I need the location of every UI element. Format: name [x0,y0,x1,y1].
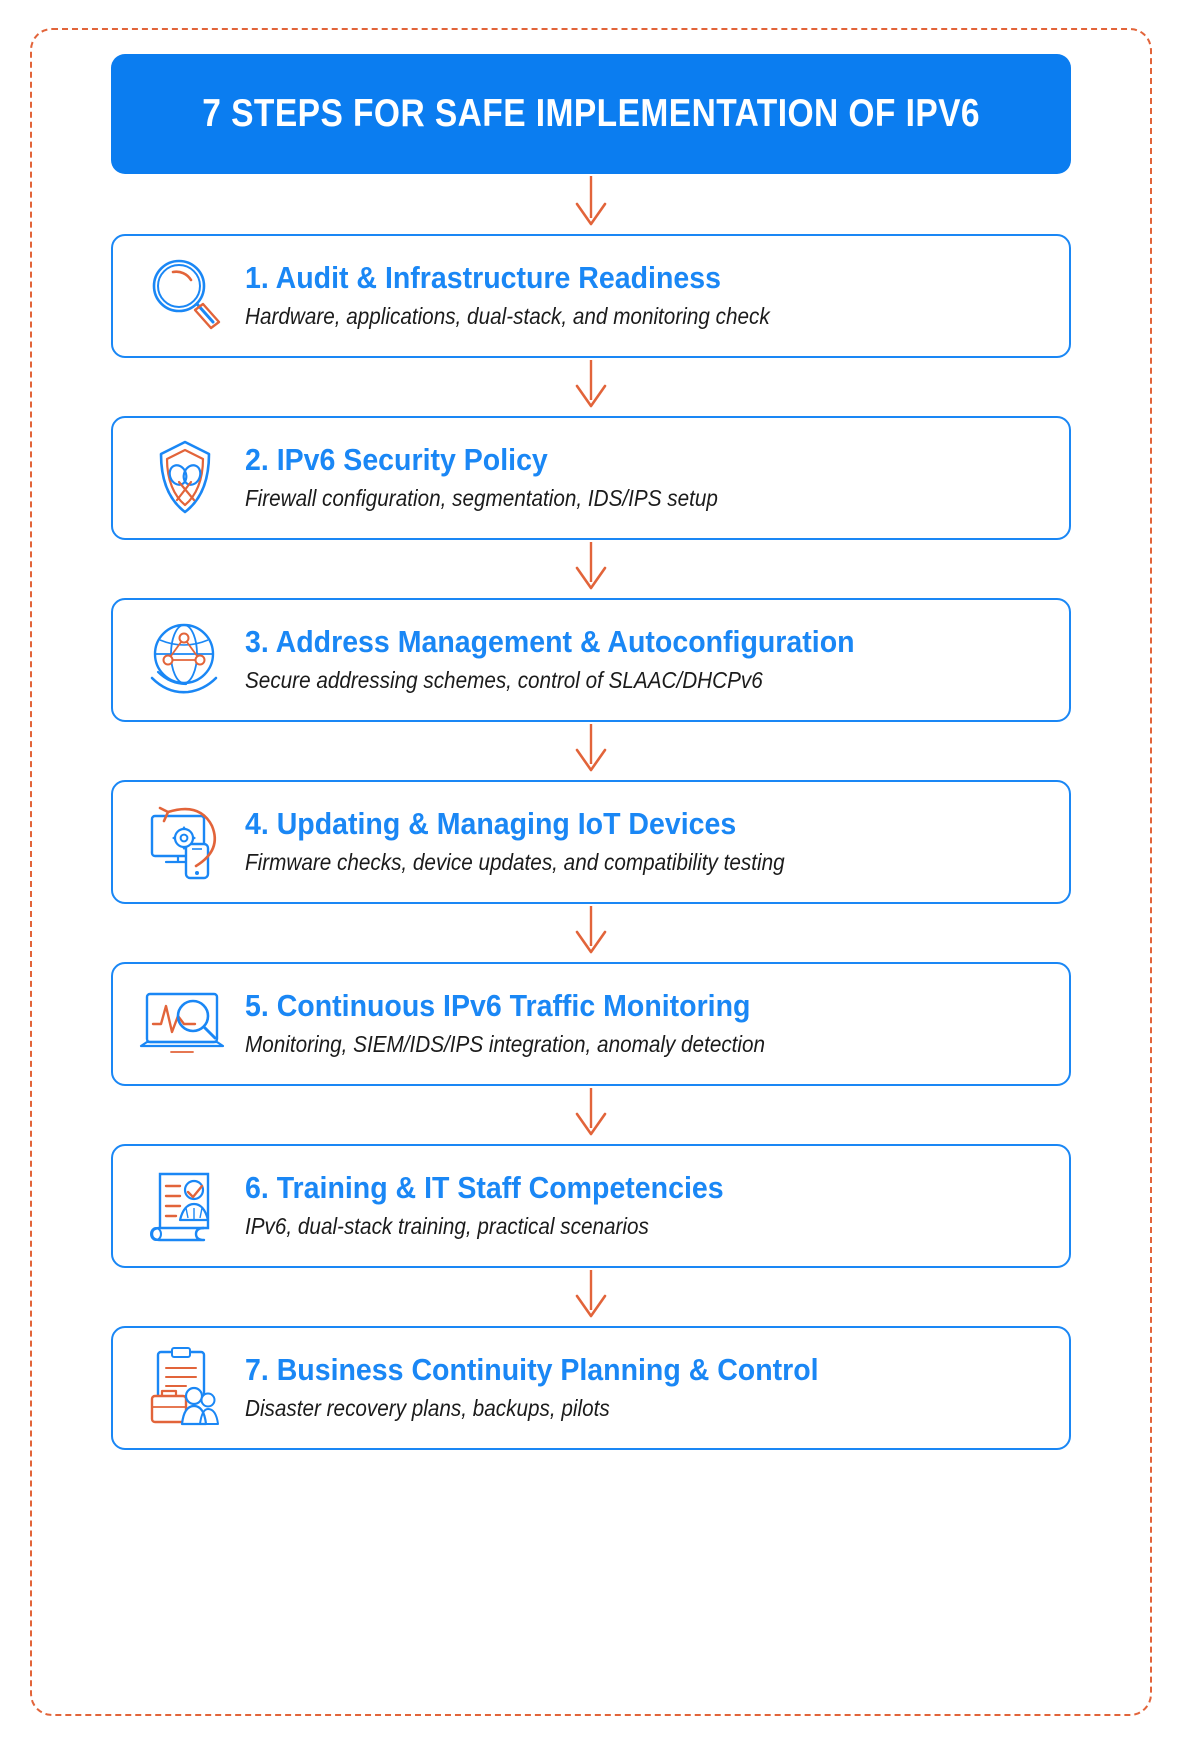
step-7-text: 7. Business Continuity Planning & Contro… [239,1352,1051,1424]
scroll-graduate-icon [138,1162,232,1250]
page-title: 7 STEPS FOR SAFE IMPLEMENTATION OF IPV6 [202,93,980,136]
infographic-page: 7 STEPS FOR SAFE IMPLEMENTATION OF IPV6 [0,0,1182,1744]
step-3-title: 3. Address Management & Autoconfiguratio… [245,624,987,660]
step-4-icon-wrap [131,796,239,888]
connector-arrow-1 [52,174,1130,234]
infographic-content: 7 STEPS FOR SAFE IMPLEMENTATION OF IPV6 [30,28,1152,1716]
step-card-1[interactable]: 1. Audit & Infrastructure Readiness Hard… [111,234,1071,358]
down-arrow-icon [561,904,621,962]
laptop-analytics-magnifier-icon [135,980,235,1068]
step-7-subtitle: Disaster recovery plans, backups, pilots [245,1394,970,1424]
step-5-text: 5. Continuous IPv6 Traffic Monitoring Mo… [239,988,1051,1060]
down-arrow-icon [561,358,621,416]
step-6-title: 6. Training & IT Staff Competencies [245,1170,987,1206]
step-6-text: 6. Training & IT Staff Competencies IPv6… [239,1170,1051,1242]
connector-arrow-5 [52,904,1130,962]
step-2-text: 2. IPv6 Security Policy Firewall configu… [239,442,1051,514]
step-2-icon-wrap [131,432,239,524]
step-4-text: 4. Updating & Managing IoT Devices Firmw… [239,806,1051,878]
step-3-subtitle: Secure addressing schemes, control of SL… [245,666,970,696]
step-card-3[interactable]: 3. Address Management & Autoconfiguratio… [111,598,1071,722]
header-banner: 7 STEPS FOR SAFE IMPLEMENTATION OF IPV6 [111,54,1071,174]
step-2-title: 2. IPv6 Security Policy [245,442,987,478]
step-card-2[interactable]: 2. IPv6 Security Policy Firewall configu… [111,416,1071,540]
step-2-subtitle: Firewall configuration, segmentation, ID… [245,484,970,514]
connector-arrow-6 [52,1086,1130,1144]
connector-arrow-7 [52,1268,1130,1326]
down-arrow-icon [561,722,621,780]
step-7-title: 7. Business Continuity Planning & Contro… [245,1352,987,1388]
step-1-text: 1. Audit & Infrastructure Readiness Hard… [239,260,1051,332]
magnifier-icon [139,252,231,340]
device-update-gear-icon [138,798,232,886]
step-1-subtitle: Hardware, applications, dual-stack, and … [245,302,970,332]
step-3-text: 3. Address Management & Autoconfiguratio… [239,624,1051,696]
step-card-4[interactable]: 4. Updating & Managing IoT Devices Firmw… [111,780,1071,904]
down-arrow-icon [561,540,621,598]
step-1-title: 1. Audit & Infrastructure Readiness [245,260,987,296]
down-arrow-icon [561,1268,621,1326]
clipboard-briefcase-people-icon [138,1344,232,1432]
step-card-6[interactable]: 6. Training & IT Staff Competencies IPv6… [111,1144,1071,1268]
step-card-5[interactable]: 5. Continuous IPv6 Traffic Monitoring Mo… [111,962,1071,1086]
step-5-icon-wrap [131,978,239,1070]
step-7-icon-wrap [131,1342,239,1434]
step-4-title: 4. Updating & Managing IoT Devices [245,806,987,842]
connector-arrow-2 [52,358,1130,416]
connector-arrow-3 [52,540,1130,598]
step-1-icon-wrap [131,250,239,342]
step-3-icon-wrap [131,614,239,706]
step-4-subtitle: Firmware checks, device updates, and com… [245,848,970,878]
step-5-title: 5. Continuous IPv6 Traffic Monitoring [245,988,987,1024]
step-5-subtitle: Monitoring, SIEM/IDS/IPS integration, an… [245,1030,970,1060]
down-arrow-icon [561,174,621,234]
step-6-icon-wrap [131,1160,239,1252]
connector-arrow-4 [52,722,1130,780]
shield-keys-icon [139,434,231,522]
step-6-subtitle: IPv6, dual-stack training, practical sce… [245,1212,970,1242]
down-arrow-icon [561,1086,621,1144]
step-card-7[interactable]: 7. Business Continuity Planning & Contro… [111,1326,1071,1450]
globe-hand-network-icon [138,616,232,704]
